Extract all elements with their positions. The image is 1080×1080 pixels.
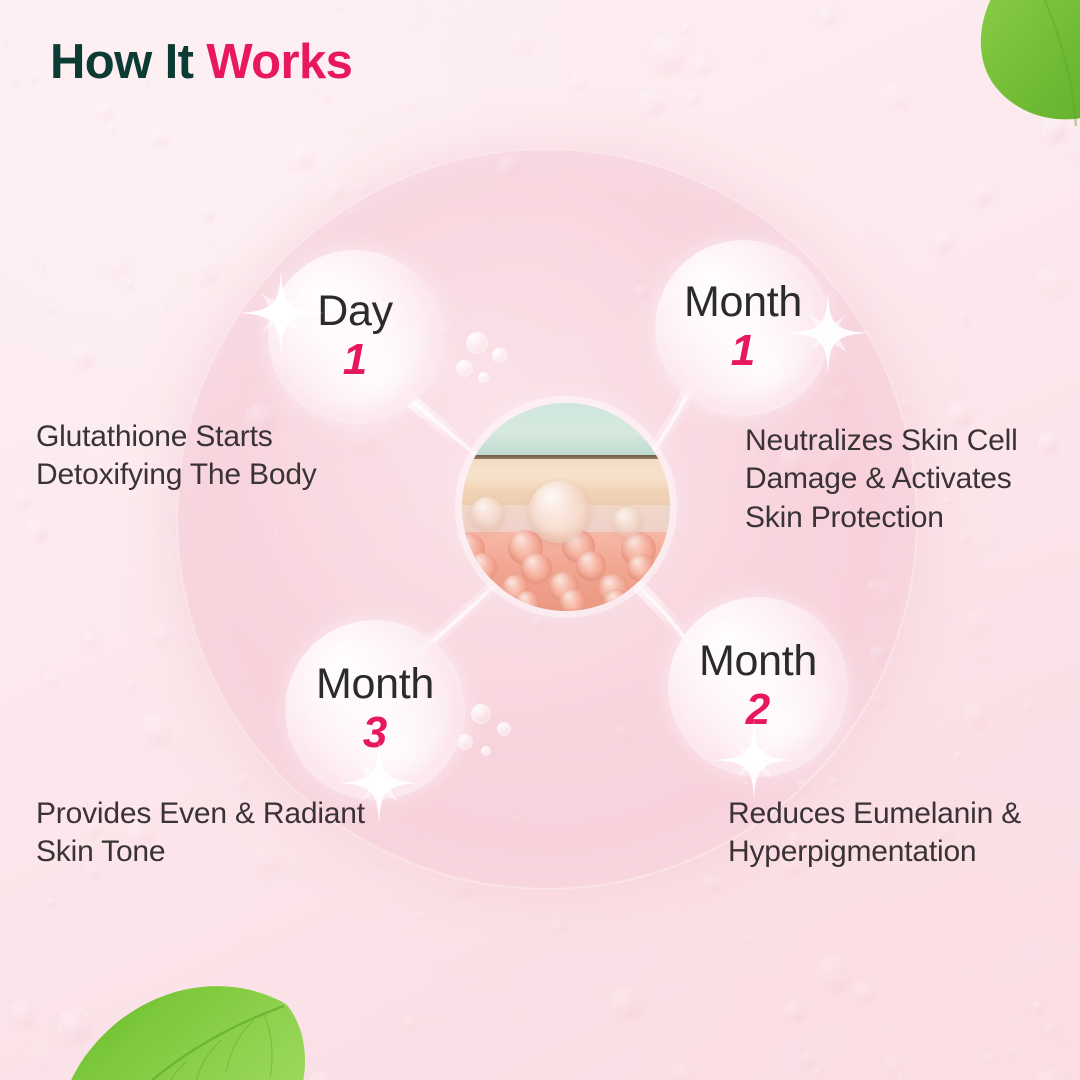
water-droplet [28, 73, 38, 83]
page-title: How It Works [50, 34, 352, 90]
water-droplet [82, 632, 99, 649]
water-droplet [243, 1072, 259, 1080]
water-droplet [955, 22, 961, 29]
water-droplet [125, 279, 134, 290]
water-droplet [745, 936, 751, 943]
step-label-day-1: Day [317, 290, 393, 333]
step-caption-month-1: Neutralizes Skin Cell Damage & Activates… [745, 422, 1075, 537]
water-droplet [872, 694, 885, 709]
water-droplet [401, 1015, 418, 1032]
water-droplet [844, 135, 849, 140]
water-droplet [1030, 1000, 1046, 1013]
water-droplet [756, 54, 760, 58]
water-droplet [102, 252, 131, 278]
water-droplet [963, 702, 990, 730]
water-droplet [26, 519, 50, 542]
water-droplet [1063, 1037, 1067, 1042]
water-droplet [149, 127, 171, 147]
water-droplet [517, 1012, 523, 1018]
water-droplet [637, 938, 641, 943]
step-label-month-1: Month [684, 281, 802, 324]
step-caption-day-1: Glutathione Starts Detoxifying The Body [36, 418, 366, 495]
step-bubble-month-3[interactable]: Month 3 [285, 620, 465, 800]
water-droplet [39, 261, 46, 270]
serum-cell [515, 591, 540, 611]
water-droplet [783, 999, 807, 1024]
water-droplet [235, 772, 252, 790]
water-droplet [199, 204, 217, 222]
water-droplet [1045, 899, 1051, 906]
serum-cell [464, 592, 490, 611]
water-droplet [1045, 409, 1049, 414]
water-droplet [510, 28, 535, 57]
water-droplet [182, 251, 187, 255]
water-droplet [686, 41, 692, 47]
water-droplet [1052, 117, 1068, 134]
water-droplet [1007, 1016, 1015, 1022]
infographic-canvas: Day 1 Month 1 Month 3 Mont [0, 0, 1080, 1080]
water-droplet [891, 1023, 900, 1032]
water-droplet [817, 5, 840, 27]
water-droplet [9, 999, 38, 1029]
water-droplet [979, 651, 985, 658]
step-bubble-month-1[interactable]: Month 1 [655, 240, 831, 416]
water-droplet [45, 897, 57, 908]
water-droplet [880, 83, 912, 112]
water-droplet [57, 1006, 94, 1046]
step-bubble-month-2[interactable]: Month 2 [668, 597, 848, 777]
leaf-icon-top-right [952, 0, 1080, 171]
water-droplet [882, 1054, 905, 1076]
water-droplet [900, 73, 908, 81]
water-droplet [184, 1024, 206, 1048]
water-droplet [1045, 1022, 1059, 1036]
water-droplet [208, 214, 213, 220]
water-droplet [195, 1050, 210, 1068]
water-droplet [338, 5, 342, 9]
water-droplet [69, 341, 97, 370]
water-droplet [648, 34, 686, 77]
water-droplet [813, 1067, 824, 1077]
step-number-day-1: 1 [343, 337, 367, 383]
water-droplet [829, 777, 840, 787]
water-droplet [143, 90, 147, 95]
water-droplet [75, 1008, 85, 1018]
water-droplet [783, 993, 788, 999]
water-droplet [107, 122, 118, 135]
water-droplet [963, 609, 991, 637]
water-droplet [702, 874, 722, 894]
water-droplet [86, 501, 91, 506]
water-droplet [609, 987, 645, 1021]
water-droplet [1041, 117, 1068, 144]
water-droplet [8, 74, 19, 85]
water-droplet [404, 97, 418, 113]
water-droplet [202, 1072, 221, 1080]
step-number-month-1: 1 [731, 328, 755, 374]
water-droplet [123, 675, 141, 692]
water-droplet [978, 268, 982, 273]
water-droplet [852, 981, 877, 1005]
water-droplet [453, 1, 457, 5]
water-droplet [174, 1018, 184, 1029]
water-droplet [307, 1070, 339, 1080]
center-skin-macro-image [462, 403, 670, 611]
page-title-part-pink: Works [206, 35, 352, 89]
water-droplet [986, 538, 993, 545]
water-droplet [568, 71, 590, 92]
step-caption-month-2: Reduces Eumelanin & Hyperpigmentation [728, 795, 1073, 872]
water-droplet [1025, 112, 1032, 119]
water-droplet [976, 766, 984, 773]
water-droplet [985, 1052, 995, 1063]
water-droplet [1033, 266, 1070, 301]
water-droplet [77, 211, 81, 216]
step-caption-month-3: Provides Even & Radiant Skin Tone [36, 795, 366, 872]
leaf-icon-bottom-left [58, 948, 378, 1080]
step-bubble-day-1[interactable]: Day 1 [268, 250, 442, 424]
water-droplet [243, 938, 249, 944]
water-droplet [75, 768, 79, 772]
water-droplet [319, 89, 333, 103]
water-droplet [140, 713, 172, 749]
water-droplet [434, 1045, 438, 1049]
water-droplet [669, 1061, 695, 1080]
water-droplet [283, 1006, 291, 1015]
water-droplet [961, 971, 965, 975]
water-droplet [1023, 702, 1033, 711]
water-droplet [205, 338, 216, 348]
step-label-month-3: Month [316, 663, 434, 706]
water-droplet [40, 689, 45, 694]
water-droplet [883, 901, 887, 905]
serum-cell [603, 589, 630, 611]
water-droplet [191, 757, 195, 761]
water-droplet [815, 954, 853, 995]
water-droplet [1, 35, 10, 45]
water-droplet [915, 354, 925, 363]
water-droplet [419, 912, 425, 919]
water-droplet [830, 760, 834, 765]
step-number-month-3: 3 [363, 710, 387, 756]
step-label-month-2: Month [699, 640, 817, 683]
water-droplet [27, 1044, 54, 1074]
water-droplet [953, 751, 964, 762]
layer-mint-surface [462, 403, 670, 457]
water-droplet [713, 982, 718, 987]
water-droplet [915, 702, 919, 707]
water-droplet [1054, 985, 1058, 989]
water-droplet [43, 671, 59, 689]
serum-cell [559, 589, 586, 611]
water-droplet [1070, 136, 1080, 160]
water-droplet [188, 253, 221, 287]
serum-cell [576, 551, 606, 581]
water-droplet [971, 182, 994, 206]
water-droplet [685, 91, 701, 106]
water-droplet [636, 89, 667, 118]
water-droplet [603, 987, 608, 992]
water-droplet [379, 860, 384, 865]
water-droplet [1006, 1047, 1014, 1055]
water-droplet [244, 1051, 250, 1058]
water-droplet [419, 8, 426, 16]
water-droplet [414, 18, 422, 27]
water-droplet [681, 24, 691, 34]
water-droplet [149, 624, 172, 648]
water-droplet [45, 302, 57, 314]
water-droplet [891, 926, 895, 931]
water-droplet [14, 489, 31, 509]
water-droplet [1063, 616, 1067, 620]
water-droplet [897, 1073, 905, 1080]
water-droplet [551, 918, 568, 933]
serum-droplet-small [612, 507, 642, 537]
serum-droplet-large [528, 481, 590, 543]
water-droplet [957, 310, 972, 326]
page-title-part-dark: How It [50, 35, 193, 89]
water-droplet [347, 958, 351, 962]
step-number-month-2: 2 [746, 687, 770, 733]
water-droplet [289, 143, 316, 172]
water-droplet [93, 148, 97, 152]
water-droplet [325, 181, 347, 201]
water-droplet [754, 145, 764, 154]
water-droplet [1074, 201, 1079, 206]
water-droplet [193, 1017, 220, 1040]
water-droplet [571, 889, 575, 893]
water-droplet [1034, 1070, 1071, 1080]
water-droplet [693, 55, 712, 76]
water-droplet [96, 103, 114, 121]
water-droplet [934, 231, 954, 254]
serum-droplet-small [470, 497, 504, 531]
water-droplet [800, 1050, 817, 1068]
water-droplet [228, 1018, 235, 1024]
